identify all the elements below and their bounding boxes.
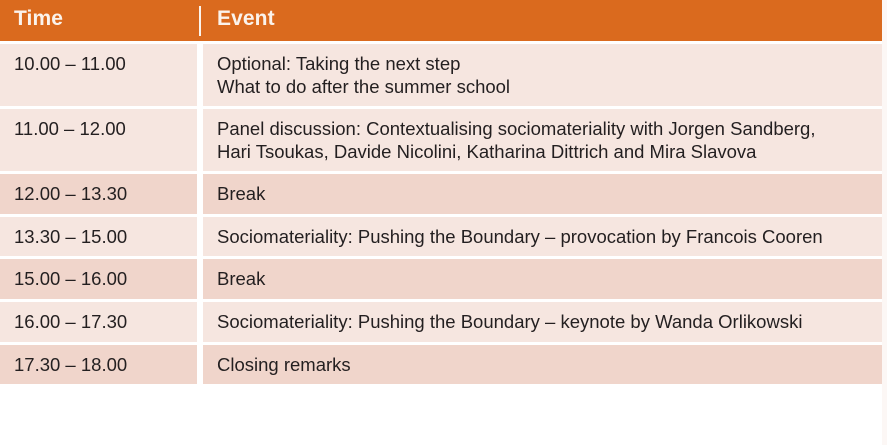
column-header-event: Event [203,0,887,41]
cell-time: 15.00 – 16.00 [0,259,197,299]
column-header-time: Time [0,0,197,41]
cell-time: 10.00 – 11.00 [0,44,197,106]
table-row: 15.00 – 16.00Break [0,259,887,299]
cell-event: Break [203,259,887,299]
event-text-line: Optional: Taking the next step [217,53,875,76]
schedule-table: Time Event 10.00 – 11.00Optional: Taking… [0,0,887,384]
header-row: Time Event [0,0,887,41]
cell-time: 11.00 – 12.00 [0,109,197,171]
cell-event: Sociomateriality: Pushing the Boundary –… [203,302,887,342]
table-row: 12.00 – 13.30Break [0,174,887,214]
cell-event: Panel discussion: Contextualising sociom… [203,109,887,171]
table-row: 10.00 – 11.00Optional: Taking the next s… [0,44,887,106]
event-text-line: What to do after the summer school [217,76,875,99]
cell-time: 12.00 – 13.30 [0,174,197,214]
cell-time: 17.30 – 18.00 [0,345,197,385]
schedule-page: Time Event 10.00 – 11.00Optional: Taking… [0,0,887,445]
table-row: 16.00 – 17.30Sociomateriality: Pushing t… [0,302,887,342]
event-text-line: Sociomateriality: Pushing the Boundary –… [217,311,875,334]
cell-event: Sociomateriality: Pushing the Boundary –… [203,217,887,257]
cell-event: Closing remarks [203,345,887,385]
cell-event: Break [203,174,887,214]
table-header: Time Event [0,0,887,41]
table-body: 10.00 – 11.00Optional: Taking the next s… [0,41,887,384]
cell-time: 13.30 – 15.00 [0,217,197,257]
table-row: 13.30 – 15.00Sociomateriality: Pushing t… [0,217,887,257]
event-text-line: Panel discussion: Contextualising sociom… [217,118,875,141]
cell-event: Optional: Taking the next stepWhat to do… [203,44,887,106]
table-row: 17.30 – 18.00Closing remarks [0,345,887,385]
event-text-line: Closing remarks [217,354,875,377]
event-text-line: Break [217,268,875,291]
cell-time: 16.00 – 17.30 [0,302,197,342]
event-text-line: Hari Tsoukas, Davide Nicolini, Katharina… [217,141,875,164]
vertical-rule-icon [199,6,201,36]
event-text-line: Break [217,183,875,206]
event-text-line: Sociomateriality: Pushing the Boundary –… [217,226,875,249]
table-row: 11.00 – 12.00Panel discussion: Contextua… [0,109,887,171]
